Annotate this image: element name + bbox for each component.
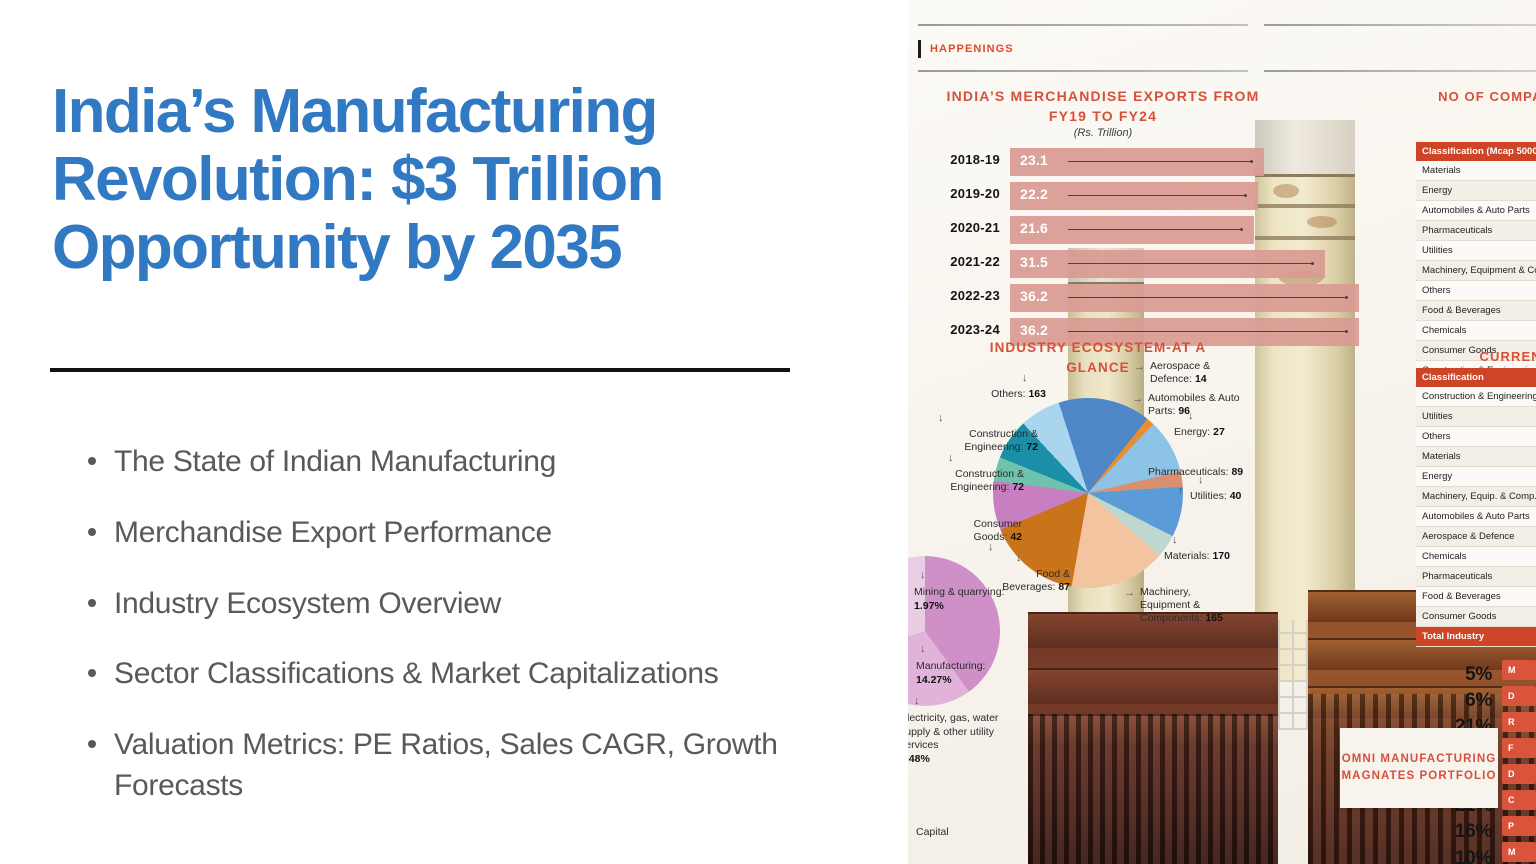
table-row: Total Industry32.0 bbox=[1416, 627, 1536, 647]
bar-row: 2021-2231.5 bbox=[914, 250, 1314, 278]
pie-label-others: ↓Others: 163 bbox=[960, 388, 1046, 401]
table-row: Food & Beverages31.0 bbox=[1416, 587, 1536, 607]
table-row: Food & Beverages bbox=[1416, 301, 1536, 321]
pie-label-utilities: ↓Utilities: 40 bbox=[1190, 490, 1254, 503]
allocation-percent: 10% bbox=[1455, 846, 1492, 864]
bar-category-label: 2019-20 bbox=[914, 186, 1000, 201]
pie-label-machinery-equipment-components: →Machinery, Equipment & Components: 165 bbox=[1140, 586, 1240, 625]
allocation-percent: 6% bbox=[1455, 688, 1492, 714]
bar-category-label: 2021-22 bbox=[914, 254, 1000, 269]
presentation-slide: India’s Manufacturing Revolution: $3 Tri… bbox=[0, 0, 1536, 864]
pie-label-mining: ↓ Mining & quarrying:1.97% bbox=[914, 586, 1006, 613]
bar-track: 22.2 bbox=[1010, 182, 1258, 210]
table-cell: Utilities bbox=[1416, 411, 1536, 422]
table-cell: Aerospace & Defence bbox=[1416, 531, 1536, 542]
bar-leader-line bbox=[1068, 161, 1252, 162]
table-row: Machinery, Equip. & Comp.44.3 bbox=[1416, 487, 1536, 507]
table-row: Materials27.2 bbox=[1416, 447, 1536, 467]
column-header: Classification (Mcap 5000 bbox=[1416, 146, 1536, 157]
table-cell: Chemicals bbox=[1416, 325, 1536, 336]
brick-building-photo-left bbox=[1028, 612, 1278, 864]
table-row: Machinery, Equipment & Co bbox=[1416, 261, 1536, 281]
table-row: Energy19.7 bbox=[1416, 467, 1536, 487]
sector-badge: M bbox=[1502, 660, 1536, 680]
omni-portfolio-label: OMNI MANUFACTURING MAGNATES PORTFOLIO bbox=[1340, 751, 1498, 786]
header-rule-right-top bbox=[1264, 24, 1536, 26]
bar-row: 2018-1923.1 bbox=[914, 148, 1314, 176]
allocation-percent: 16% bbox=[1455, 819, 1492, 845]
portfolio-sector-badge-column: MDRFDCPM bbox=[1502, 660, 1536, 864]
table-cell: Construction & Engineering bbox=[1416, 391, 1536, 402]
pie-label-energy: ↓Energy: 27 bbox=[1174, 426, 1266, 439]
list-item: Valuation Metrics: PE Ratios, Sales CAGR… bbox=[72, 725, 862, 807]
table-row: Automobiles & Auto Parts bbox=[1416, 201, 1536, 221]
table-row: Chemicals bbox=[1416, 321, 1536, 341]
omni-portfolio-box: OMNI MANUFACTURING MAGNATES PORTFOLIO bbox=[1340, 728, 1498, 808]
table-row: Materials bbox=[1416, 161, 1536, 181]
bar-leader-line bbox=[1068, 229, 1242, 230]
bar-row: 2020-2121.6 bbox=[914, 216, 1314, 244]
pie-label-electricity: ↓ Electricity, gas, water supply & other… bbox=[908, 712, 1008, 767]
companies-table-title: NO OF COMPANIES INDUS bbox=[1408, 88, 1536, 107]
table-cell: Pharmaceuticals bbox=[1416, 571, 1536, 582]
current-and-pe-table: ClassificationPE MedConstruction & Engin… bbox=[1416, 368, 1536, 647]
table-cell: Food & Beverages bbox=[1416, 305, 1536, 316]
title-divider bbox=[50, 368, 790, 372]
bar-leader-line bbox=[1068, 297, 1347, 298]
list-item: Sector Classifications & Market Capitali… bbox=[72, 654, 862, 695]
table-header-row: ClassificationPE Med bbox=[1416, 368, 1536, 387]
header-rule-left-bottom bbox=[918, 70, 1248, 72]
bar-row: 2019-2022.2 bbox=[914, 182, 1314, 210]
page-title: India’s Manufacturing Revolution: $3 Tri… bbox=[52, 78, 842, 283]
table-cell: Food & Beverages bbox=[1416, 591, 1536, 602]
bar-category-label: 2022-23 bbox=[914, 288, 1000, 303]
bar-track: 36.2 bbox=[1010, 284, 1359, 312]
bar-chart-title: INDIA’S MERCHANDISE EXPORTS FROM FY19 TO… bbox=[938, 86, 1268, 127]
bar-value-label: 23.1 bbox=[1020, 152, 1048, 168]
infographic-panel: HAPPENINGS INDIA’S MERCHANDISE EXPORTS F… bbox=[908, 0, 1536, 864]
table-row: Automobiles & Auto Parts28.8 bbox=[1416, 507, 1536, 527]
table-row: Construction & Engineering26.5 bbox=[1416, 387, 1536, 407]
pie-label-capital: Capital bbox=[916, 826, 949, 840]
pie-label-construction-engineering: ↓Construction & Engineering: 72 bbox=[932, 428, 1038, 454]
table-cell: Consumer Goods bbox=[1416, 611, 1536, 622]
bar-row: 2022-2336.2 bbox=[914, 284, 1314, 312]
bar-value-label: 22.2 bbox=[1020, 186, 1048, 202]
bar-leader-line bbox=[1068, 263, 1313, 264]
table-cell: Machinery, Equip. & Comp. bbox=[1416, 491, 1536, 502]
section-kicker: HAPPENINGS bbox=[930, 43, 1014, 55]
table-cell: Pharmaceuticals bbox=[1416, 225, 1536, 236]
bar-value-label: 21.6 bbox=[1020, 220, 1048, 236]
list-item: Industry Ecosystem Overview bbox=[72, 584, 862, 625]
pie-label-automobiles-auto-parts: →Automobiles & Auto Parts: 96 bbox=[1148, 392, 1252, 418]
table-row: Utilities bbox=[1416, 241, 1536, 261]
pie-label-manufacturing: ↓ Manufacturing:14.27% bbox=[916, 660, 1016, 687]
pie-label-materials: ↓Materials: 170 bbox=[1164, 550, 1234, 563]
agenda-bullet-list: The State of Indian Manufacturing Mercha… bbox=[72, 442, 862, 837]
table-row: Pharmaceuticals bbox=[1416, 221, 1536, 241]
table-cell: Others bbox=[1416, 285, 1536, 296]
bar-fill bbox=[1010, 284, 1359, 312]
sector-badge: P bbox=[1502, 816, 1536, 836]
table-cell: Energy bbox=[1416, 471, 1536, 482]
sector-badge: R bbox=[1502, 712, 1536, 732]
table-cell: Materials bbox=[1416, 165, 1536, 176]
pie-label-construction-engineering: ↓Construction & Engineering: 72 bbox=[930, 468, 1024, 494]
table-header-row: Classification (Mcap 5000 bbox=[1416, 142, 1536, 161]
list-item: Merchandise Export Performance bbox=[72, 513, 862, 554]
table-cell: Automobiles & Auto Parts bbox=[1416, 511, 1536, 522]
header-rule-left-top bbox=[918, 24, 1248, 26]
bar-fill bbox=[1010, 148, 1264, 176]
table-row: Others bbox=[1416, 281, 1536, 301]
pie-label-food-beverages: ↓Food & Beverages: 87 bbox=[996, 568, 1070, 594]
table-cell: Chemicals bbox=[1416, 551, 1536, 562]
bar-track: 21.6 bbox=[1010, 216, 1254, 244]
table-row: Aerospace & Defence62.1 bbox=[1416, 527, 1536, 547]
table-row: Consumer Goods47.9 bbox=[1416, 607, 1536, 627]
bar-value-label: 36.2 bbox=[1020, 288, 1048, 304]
sector-badge: C bbox=[1502, 790, 1536, 810]
table-cell: Machinery, Equipment & Co bbox=[1416, 265, 1536, 276]
left-content-panel: India’s Manufacturing Revolution: $3 Tri… bbox=[0, 0, 900, 864]
table-cell: Materials bbox=[1416, 451, 1536, 462]
sector-badge: D bbox=[1502, 764, 1536, 784]
allocation-percent: 5% bbox=[1455, 662, 1492, 688]
table-cell: Energy bbox=[1416, 185, 1536, 196]
bar-category-label: 2020-21 bbox=[914, 220, 1000, 235]
table-cell: Others bbox=[1416, 431, 1536, 442]
pie-label-aerospace-defence: →Aerospace & Defence: 14 bbox=[1150, 360, 1254, 386]
bar-leader-line bbox=[1068, 331, 1347, 332]
bar-chart-subtitle: (Rs. Trillion) bbox=[938, 127, 1268, 139]
bar-fill bbox=[1010, 250, 1325, 278]
sector-badge: F bbox=[1502, 738, 1536, 758]
list-item: The State of Indian Manufacturing bbox=[72, 442, 862, 483]
bar-value-label: 31.5 bbox=[1020, 254, 1048, 270]
pie-label-consumer-goods: ↓Consumer Goods: 42 bbox=[944, 518, 1022, 544]
bar-category-label: 2018-19 bbox=[914, 152, 1000, 167]
table-row: Pharmaceuticals33.5 bbox=[1416, 567, 1536, 587]
bar-category-label: 2023-24 bbox=[914, 322, 1000, 337]
bar-value-label: 36.2 bbox=[1020, 322, 1048, 338]
header-rule-right-bottom bbox=[1264, 70, 1536, 72]
table-row: Chemicals29.0 bbox=[1416, 547, 1536, 567]
table-cell: Automobiles & Auto Parts bbox=[1416, 205, 1536, 216]
table-row: Energy bbox=[1416, 181, 1536, 201]
table-cell: Utilities bbox=[1416, 245, 1536, 256]
column-header: Classification bbox=[1416, 372, 1536, 383]
table-cell: Total Industry bbox=[1416, 631, 1536, 642]
bar-track: 31.5 bbox=[1010, 250, 1325, 278]
table-row: Utilities25.4 bbox=[1416, 407, 1536, 427]
sector-badge: M bbox=[1502, 842, 1536, 862]
bar-leader-line bbox=[1068, 195, 1246, 196]
bar-track: 23.1 bbox=[1010, 148, 1264, 176]
sector-badge: D bbox=[1502, 686, 1536, 706]
kicker-tick-mark bbox=[918, 40, 921, 58]
valuation-table-title: CURRENT AND bbox=[1408, 348, 1536, 367]
table-row: Others27.9 bbox=[1416, 427, 1536, 447]
